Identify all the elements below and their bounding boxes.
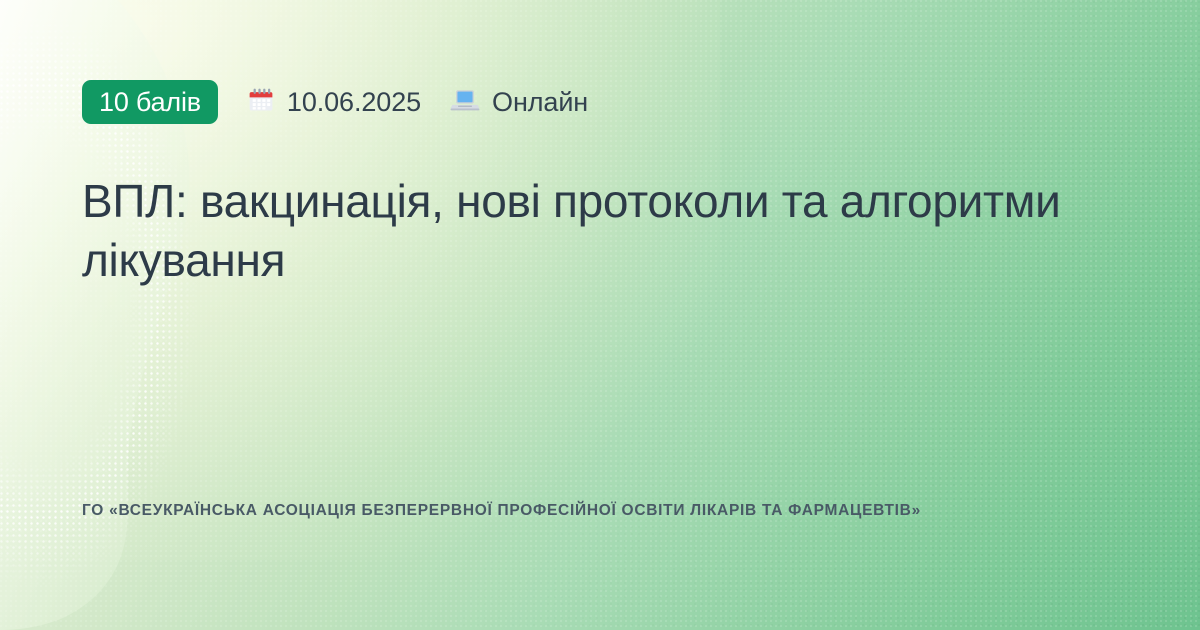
event-format: Онлайн [492, 89, 588, 116]
meta-format: Онлайн [450, 86, 588, 119]
laptop-icon [450, 86, 480, 119]
event-date: 10.06.2025 [287, 89, 421, 116]
card-content: 10 балів [0, 0, 1200, 630]
page-title: ВПЛ: вакцинація, нові протоколи та алгор… [82, 172, 1082, 290]
organizer-name: ГО «ВСЕУКРАЇНСЬКА АСОЦІАЦІЯ БЕЗПЕРЕРВНОЇ… [82, 498, 921, 523]
event-card: 10 балів [0, 0, 1200, 630]
credits-badge: 10 балів [82, 80, 218, 124]
meta-date: 10.06.2025 [247, 86, 421, 119]
meta-row: 10 балів [82, 80, 1200, 124]
calendar-icon [247, 86, 275, 119]
